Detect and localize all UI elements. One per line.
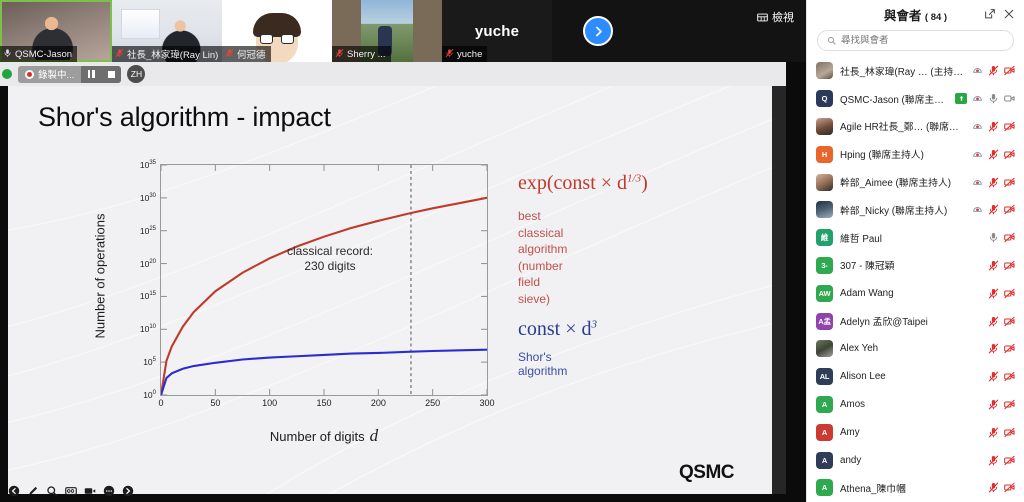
mic-muted-icon[interactable] [988, 121, 999, 132]
mic-muted-icon[interactable] [988, 343, 999, 354]
recording-status-label: 錄製中... [38, 67, 74, 81]
y-axis-tick: 105 [143, 357, 156, 367]
participant-status-icons [988, 343, 1015, 354]
video-muted-icon[interactable] [1004, 204, 1015, 215]
annotation-red-caption: best classical algorithm (number field s… [518, 208, 567, 307]
y-axis-tick: 1010 [140, 324, 156, 334]
pop-out-icon[interactable] [984, 8, 996, 20]
pause-icon [88, 70, 95, 78]
video-muted-icon[interactable] [1004, 288, 1015, 299]
mic-muted-icon [335, 48, 344, 61]
avatar [816, 118, 833, 135]
participant-row[interactable]: 幹部_Aimee (聯席主持人) [807, 168, 1024, 196]
participant-name: andy [840, 455, 981, 466]
video-tile-label: yuche [442, 46, 487, 62]
video-filmstrip: QSMC-Jason社長_林家瑋(Ray Lin)何冠德Sherry ...yu… [0, 0, 806, 62]
video-icon[interactable] [1004, 93, 1015, 104]
qsmc-logo: QSMC [679, 462, 734, 484]
participant-row[interactable]: AAthena_陳巾幗 [807, 474, 1024, 502]
video-tile-label: Sherry ... [332, 46, 391, 62]
video-tile-participant-name: 社長_林家瑋(Ray Lin) [127, 47, 218, 61]
mic-icon [3, 48, 12, 61]
page-title: Shor's algorithm - impact [38, 102, 331, 133]
chevron-right-icon[interactable] [583, 16, 613, 46]
mic-muted-icon[interactable] [988, 288, 999, 299]
annotation-classical-record: classical record: 230 digits [284, 244, 376, 275]
close-icon[interactable] [1003, 8, 1015, 20]
participant-name: Adelyn 孟欣@Taipei [840, 314, 981, 328]
status-dot-icon[interactable] [972, 177, 983, 188]
video-tile-5[interactable]: yucheyuche [442, 0, 552, 62]
participant-status-icons [988, 371, 1015, 382]
record-dot-icon [25, 70, 34, 79]
search-container [807, 28, 1024, 57]
avatar: Q [816, 90, 833, 107]
video-tile-2[interactable]: 社長_林家瑋(Ray Lin) [112, 0, 222, 62]
participant-name: Amos [840, 399, 981, 410]
video-muted-icon[interactable] [1004, 260, 1015, 271]
participant-status-icons [988, 316, 1015, 327]
mic-muted-icon [225, 48, 234, 61]
recording-pill[interactable]: 錄製中... [18, 66, 121, 83]
status-dot-icon[interactable] [972, 149, 983, 160]
video-muted-icon[interactable] [1004, 177, 1015, 188]
mic-icon[interactable] [988, 232, 999, 243]
stop-icon [108, 71, 115, 78]
avatar [816, 174, 833, 191]
operations-vs-digits-chart: Number of operations 1001051010101510201… [104, 158, 524, 458]
avatar: AL [816, 368, 833, 385]
video-tile-label: 社長_林家瑋(Ray Lin) [112, 46, 222, 62]
video-tile-participant-name: Sherry ... [347, 49, 386, 60]
status-dot-icon[interactable] [972, 93, 983, 104]
video-muted-icon[interactable] [1004, 232, 1015, 243]
back-arrow-icon[interactable] [8, 485, 20, 497]
participant-status-icons [988, 399, 1015, 410]
avatar: H [816, 146, 833, 163]
participant-row[interactable]: HHping (聯席主持人) [807, 140, 1024, 168]
video-tile-label: 何冠德 [222, 46, 271, 62]
mic-muted-icon[interactable] [988, 427, 999, 438]
participants-panel: 與會者 ( 84 ) 社長_林家瑋(Ray … (主持人, 我)QQSMC-Ja… [806, 0, 1024, 502]
participant-name: Athena_陳巾幗 [840, 481, 981, 495]
participant-name: 社長_林家瑋(Ray … (主持人, 我) [840, 64, 965, 78]
participant-name: Agile HR社長_鄭… (聯席主持人) [840, 119, 965, 133]
participant-name: 幹部_Aimee (聯席主持人) [840, 175, 965, 189]
mic-muted-icon[interactable] [988, 149, 999, 160]
annotation-toolbar[interactable] [4, 483, 138, 499]
avatar: AW [816, 285, 833, 302]
video-tile-participant-name: QSMC-Jason [15, 49, 72, 60]
x-axis-tick: 200 [371, 398, 386, 408]
participant-list[interactable]: 社長_林家瑋(Ray … (主持人, 我)QQSMC-Jason (聯席主持人)… [807, 57, 1024, 502]
filmstrip-next-page-button[interactable] [552, 0, 644, 62]
grid-view-icon [757, 12, 768, 23]
participant-status-icons [972, 204, 1015, 215]
participant-status-icons [988, 427, 1015, 438]
y-axis-tick: 100 [143, 390, 156, 400]
avatar [816, 62, 833, 79]
mic-muted-icon[interactable] [988, 177, 999, 188]
chart-curves [161, 165, 487, 395]
video-muted-icon[interactable] [1004, 65, 1015, 76]
mic-muted-icon [445, 48, 454, 61]
avatar: 維 [816, 229, 833, 246]
y-axis-tick: 1020 [140, 259, 156, 269]
participant-name: QSMC-Jason (聯席主持人) [840, 92, 948, 106]
x-axis-tick: 300 [479, 398, 494, 408]
participant-row[interactable]: 社長_林家瑋(Ray … (主持人, 我) [807, 57, 1024, 85]
video-muted-icon[interactable] [1004, 399, 1015, 410]
x-axis-tick: 150 [316, 398, 331, 408]
video-muted-icon[interactable] [1004, 343, 1015, 354]
participant-row[interactable]: Alex Yeh [807, 335, 1024, 363]
avatar [816, 201, 833, 218]
pencil-icon[interactable] [27, 485, 39, 497]
annotation-blue-caption: Shor's algorithm [518, 350, 567, 378]
video-muted-icon[interactable] [1004, 427, 1015, 438]
participant-status-icons [988, 232, 1015, 243]
avatar: A [816, 396, 833, 413]
participant-row[interactable]: Agile HR社長_鄭… (聯席主持人) [807, 113, 1024, 141]
participant-status-icons [972, 149, 1015, 160]
avatar: A [816, 479, 833, 496]
participant-status-icons [972, 121, 1015, 132]
forward-arrow-icon[interactable] [122, 485, 134, 497]
y-axis-tick: 1015 [140, 291, 156, 301]
participant-status-icons [972, 65, 1015, 76]
view-mode-label: 檢視 [772, 9, 794, 25]
participant-row[interactable]: QQSMC-Jason (聯席主持人) [807, 85, 1024, 113]
chart-plot-area: 1001051010101510201025103010350501001502… [160, 164, 488, 396]
mic-muted-icon[interactable] [988, 399, 999, 410]
participant-row[interactable]: 維維哲 Paul [807, 224, 1024, 252]
sharing-indicator-dot [2, 69, 12, 79]
y-axis-label: Number of operations [93, 213, 108, 338]
recording-status: 錄製中... [18, 67, 81, 81]
video-tile-participant-name: yuche [457, 49, 482, 60]
avatar: A [816, 452, 833, 469]
mic-muted-icon[interactable] [988, 260, 999, 271]
annotation-blue-formula: const × d3 [518, 318, 597, 341]
y-axis-tick: 1030 [140, 193, 156, 203]
x-axis-tick: 50 [210, 398, 220, 408]
shared-slide: Shor's algorithm - impact Number of oper… [8, 86, 786, 494]
mic-icon[interactable] [988, 93, 999, 104]
mic-muted-icon [115, 48, 124, 61]
participant-row[interactable]: Aandy [807, 446, 1024, 474]
video-muted-icon[interactable] [1004, 316, 1015, 327]
video-tile-1[interactable]: QSMC-Jason [0, 0, 112, 62]
participant-row[interactable]: AWAdam Wang [807, 279, 1024, 307]
screen-share-icon [955, 93, 967, 104]
x-axis-label: Number of digitsd [270, 426, 378, 446]
video-tile-3[interactable]: 何冠德 [222, 0, 332, 62]
pause-recording-button[interactable] [81, 66, 101, 83]
participant-name: 307 - 陳冠穎 [840, 258, 981, 272]
video-tile-4[interactable]: Sherry ... [332, 0, 442, 62]
participant-row[interactable]: 3-307 - 陳冠穎 [807, 252, 1024, 280]
mic-muted-icon[interactable] [988, 204, 999, 215]
x-axis-tick: 250 [425, 398, 440, 408]
video-muted-icon[interactable] [1004, 482, 1015, 493]
mic-muted-icon[interactable] [988, 482, 999, 493]
mic-muted-icon[interactable] [988, 65, 999, 76]
panel-title: 與會者 ( 84 ) [884, 5, 947, 24]
status-dot-icon[interactable] [972, 204, 983, 215]
participant-name: Hping (聯席主持人) [840, 147, 965, 161]
mic-muted-icon[interactable] [988, 455, 999, 466]
participant-row[interactable]: 幹部_Nicky (聯席主持人) [807, 196, 1024, 224]
participant-status-icons [988, 260, 1015, 271]
participant-status-icons [988, 482, 1015, 493]
video-tile-label: QSMC-Jason [0, 46, 77, 62]
panel-header: 與會者 ( 84 ) [807, 0, 1024, 28]
video-muted-icon[interactable] [1004, 149, 1015, 160]
closed-caption-icon[interactable] [65, 485, 77, 497]
search-input[interactable] [841, 35, 1004, 46]
video-muted-icon[interactable] [1004, 121, 1015, 132]
x-axis-tick: 0 [158, 398, 163, 408]
y-axis-tick: 1025 [140, 226, 156, 236]
participant-name: Alex Yeh [840, 343, 981, 354]
chat-icon[interactable] [103, 485, 115, 497]
participant-row[interactable]: ALAlison Lee [807, 363, 1024, 391]
participant-status-icons [955, 93, 1015, 104]
meeting-area: QSMC-Jason社長_林家瑋(Ray Lin)何冠德Sherry ...yu… [0, 0, 806, 502]
camera-icon[interactable] [84, 485, 96, 497]
x-axis-tick: 100 [262, 398, 277, 408]
search-box[interactable] [817, 30, 1014, 51]
mic-muted-icon[interactable] [988, 371, 999, 382]
avatar: 3- [816, 257, 833, 274]
avatar: A [816, 424, 833, 441]
participant-row[interactable]: AAmos [807, 391, 1024, 419]
participant-name: 幹部_Nicky (聯席主持人) [840, 203, 965, 217]
magnifier-icon[interactable] [46, 485, 58, 497]
avatar: A孟 [816, 313, 833, 330]
participant-name: Adam Wang [840, 288, 981, 299]
recording-control-bar: 錄製中... ZH [0, 62, 786, 86]
avatar [816, 340, 833, 357]
status-dot-icon[interactable] [972, 65, 983, 76]
view-mode-button[interactable]: 檢視 [753, 7, 798, 27]
participant-count: ( 84 ) [925, 12, 947, 23]
slide-right-bar [772, 86, 786, 494]
participant-status-icons [988, 288, 1015, 299]
search-icon [827, 36, 836, 45]
participant-status-icons [972, 177, 1015, 188]
stop-recording-button[interactable] [101, 66, 121, 83]
video-muted-icon[interactable] [1004, 455, 1015, 466]
participant-name: 維哲 Paul [840, 231, 981, 245]
language-badge[interactable]: ZH [127, 65, 145, 83]
annotation-red-formula: exp(const × d1/3) [518, 172, 648, 195]
participant-name: Amy [840, 427, 981, 438]
participant-row[interactable]: AAmy [807, 418, 1024, 446]
y-axis-tick: 1035 [140, 160, 156, 170]
status-dot-icon[interactable] [972, 121, 983, 132]
video-muted-icon[interactable] [1004, 371, 1015, 382]
participant-status-icons [988, 455, 1015, 466]
participant-name: Alison Lee [840, 371, 981, 382]
participant-row[interactable]: A孟Adelyn 孟欣@Taipei [807, 307, 1024, 335]
video-tile-participant-name: 何冠德 [237, 47, 266, 61]
mic-muted-icon[interactable] [988, 316, 999, 327]
